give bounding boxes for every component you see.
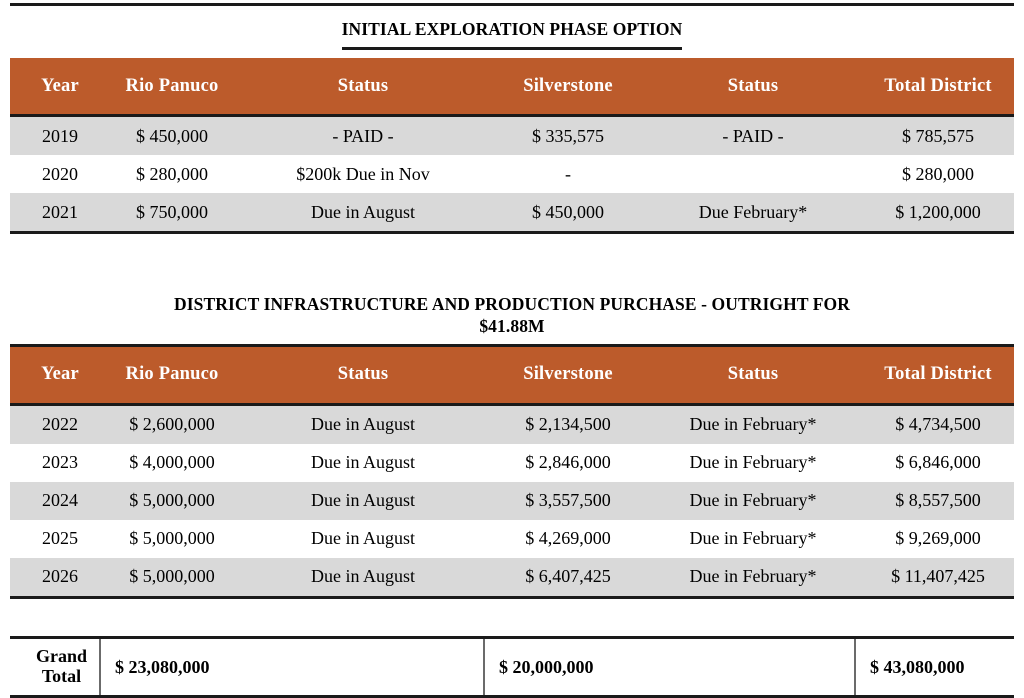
cell-total-district: $ 280,000 bbox=[862, 155, 1014, 193]
cell-total-district: $ 9,269,000 bbox=[862, 520, 1014, 558]
cell-rio-status: Due in August bbox=[234, 482, 492, 520]
cell-silverstone: $ 2,134,500 bbox=[492, 404, 644, 444]
table-row: 2020 $ 280,000 $200k Due in Nov - $ 280,… bbox=[10, 155, 1014, 193]
cell-silverstone-status bbox=[644, 155, 862, 193]
table-title-district-line-1: DISTRICT INFRASTRUCTURE AND PRODUCTION P… bbox=[18, 293, 1006, 315]
section-grand-total: Grand Total $ 23,080,000 $ 20,000,000 $ … bbox=[10, 636, 1014, 698]
cell-rio-status: Due in August bbox=[234, 444, 492, 482]
cell-rio-panuco: $ 5,000,000 bbox=[110, 520, 234, 558]
cell-year: 2023 bbox=[10, 444, 110, 482]
column-header-year: Year bbox=[10, 58, 110, 116]
cell-rio-panuco: $ 5,000,000 bbox=[110, 558, 234, 598]
cell-rio-status: Due in August bbox=[234, 558, 492, 598]
cell-silverstone: $ 3,557,500 bbox=[492, 482, 644, 520]
column-header-silverstone-status: Status bbox=[644, 58, 862, 116]
cell-silverstone-status: Due February* bbox=[644, 193, 862, 233]
cell-silverstone-status: Due in February* bbox=[644, 520, 862, 558]
table-initial-exploration: Year Rio Panuco Status Silverstone Statu… bbox=[10, 58, 1014, 234]
cell-silverstone: $ 335,575 bbox=[492, 116, 644, 156]
grand-total-rio-panuco: $ 23,080,000 bbox=[100, 638, 484, 697]
cell-rio-status: $200k Due in Nov bbox=[234, 155, 492, 193]
cell-year: 2024 bbox=[10, 482, 110, 520]
table-grand-total: Grand Total $ 23,080,000 $ 20,000,000 $ … bbox=[10, 636, 1014, 698]
table-title-initial-line-1: INITIAL EXPLORATION PHASE OPTION bbox=[342, 18, 683, 50]
cell-silverstone: $ 2,846,000 bbox=[492, 444, 644, 482]
section-district-infrastructure: DISTRICT INFRASTRUCTURE AND PRODUCTION P… bbox=[10, 288, 1014, 599]
cell-year: 2020 bbox=[10, 155, 110, 193]
grand-total-label-line-2: Total bbox=[42, 666, 81, 686]
cell-rio-status: Due in August bbox=[234, 193, 492, 233]
cell-rio-panuco: $ 2,600,000 bbox=[110, 404, 234, 444]
table-row: 2026 $ 5,000,000 Due in August $ 6,407,4… bbox=[10, 558, 1014, 598]
cell-silverstone-status: Due in February* bbox=[644, 444, 862, 482]
cell-silverstone: $ 450,000 bbox=[492, 193, 644, 233]
table-title-initial: INITIAL EXPLORATION PHASE OPTION bbox=[10, 12, 1014, 58]
cell-total-district: $ 785,575 bbox=[862, 116, 1014, 156]
cell-silverstone-status: Due in February* bbox=[644, 558, 862, 598]
cell-rio-panuco: $ 280,000 bbox=[110, 155, 234, 193]
column-header-year: Year bbox=[10, 347, 110, 405]
grand-total-silverstone: $ 20,000,000 bbox=[484, 638, 855, 697]
table-district-infrastructure: Year Rio Panuco Status Silverstone Statu… bbox=[10, 347, 1014, 599]
column-header-silverstone-status: Status bbox=[644, 347, 862, 405]
grand-total-label-line-1: Grand bbox=[36, 646, 87, 666]
column-header-rio-panuco: Rio Panuco bbox=[110, 347, 234, 405]
table-header-row: Year Rio Panuco Status Silverstone Statu… bbox=[10, 58, 1014, 116]
table-row: 2021 $ 750,000 Due in August $ 450,000 D… bbox=[10, 193, 1014, 233]
cell-rio-panuco: $ 750,000 bbox=[110, 193, 234, 233]
table-row: 2024 $ 5,000,000 Due in August $ 3,557,5… bbox=[10, 482, 1014, 520]
cell-year: 2026 bbox=[10, 558, 110, 598]
cell-rio-status: Due in August bbox=[234, 520, 492, 558]
column-header-total-district: Total District bbox=[862, 58, 1014, 116]
document-page: INITIAL EXPLORATION PHASE OPTION Year Ri… bbox=[0, 0, 1024, 698]
cell-year: 2021 bbox=[10, 193, 110, 233]
cell-year: 2019 bbox=[10, 116, 110, 156]
cell-silverstone: $ 6,407,425 bbox=[492, 558, 644, 598]
cell-silverstone: - bbox=[492, 155, 644, 193]
cell-rio-panuco: $ 4,000,000 bbox=[110, 444, 234, 482]
cell-silverstone-status: - PAID - bbox=[644, 116, 862, 156]
table-row: 2019 $ 450,000 - PAID - $ 335,575 - PAID… bbox=[10, 116, 1014, 156]
column-header-rio-panuco: Rio Panuco bbox=[110, 58, 234, 116]
table-title-district: DISTRICT INFRASTRUCTURE AND PRODUCTION P… bbox=[10, 288, 1014, 347]
cell-silverstone-status: Due in February* bbox=[644, 404, 862, 444]
cell-total-district: $ 6,846,000 bbox=[862, 444, 1014, 482]
cell-rio-panuco: $ 5,000,000 bbox=[110, 482, 234, 520]
cell-silverstone-status: Due in February* bbox=[644, 482, 862, 520]
cell-rio-panuco: $ 450,000 bbox=[110, 116, 234, 156]
section-initial-exploration: INITIAL EXPLORATION PHASE OPTION Year Ri… bbox=[10, 12, 1014, 234]
page-top-rule bbox=[10, 3, 1014, 6]
column-header-total-district: Total District bbox=[862, 347, 1014, 405]
grand-total-total-district: $ 43,080,000 bbox=[855, 638, 1014, 697]
column-header-silverstone: Silverstone bbox=[492, 347, 644, 405]
table-row: 2025 $ 5,000,000 Due in August $ 4,269,0… bbox=[10, 520, 1014, 558]
table-header-row: Year Rio Panuco Status Silverstone Statu… bbox=[10, 347, 1014, 405]
cell-total-district: $ 4,734,500 bbox=[862, 404, 1014, 444]
cell-year: 2025 bbox=[10, 520, 110, 558]
table-row: 2022 $ 2,600,000 Due in August $ 2,134,5… bbox=[10, 404, 1014, 444]
cell-year: 2022 bbox=[10, 404, 110, 444]
cell-total-district: $ 8,557,500 bbox=[862, 482, 1014, 520]
table-row: 2023 $ 4,000,000 Due in August $ 2,846,0… bbox=[10, 444, 1014, 482]
grand-total-row: Grand Total $ 23,080,000 $ 20,000,000 $ … bbox=[10, 638, 1014, 697]
cell-silverstone: $ 4,269,000 bbox=[492, 520, 644, 558]
cell-rio-status: - PAID - bbox=[234, 116, 492, 156]
column-header-rio-status: Status bbox=[234, 58, 492, 116]
column-header-silverstone: Silverstone bbox=[492, 58, 644, 116]
table-title-district-line-2: $41.88M bbox=[18, 315, 1006, 337]
grand-total-label: Grand Total bbox=[10, 638, 100, 697]
column-header-rio-status: Status bbox=[234, 347, 492, 405]
cell-total-district: $ 11,407,425 bbox=[862, 558, 1014, 598]
cell-total-district: $ 1,200,000 bbox=[862, 193, 1014, 233]
cell-rio-status: Due in August bbox=[234, 404, 492, 444]
